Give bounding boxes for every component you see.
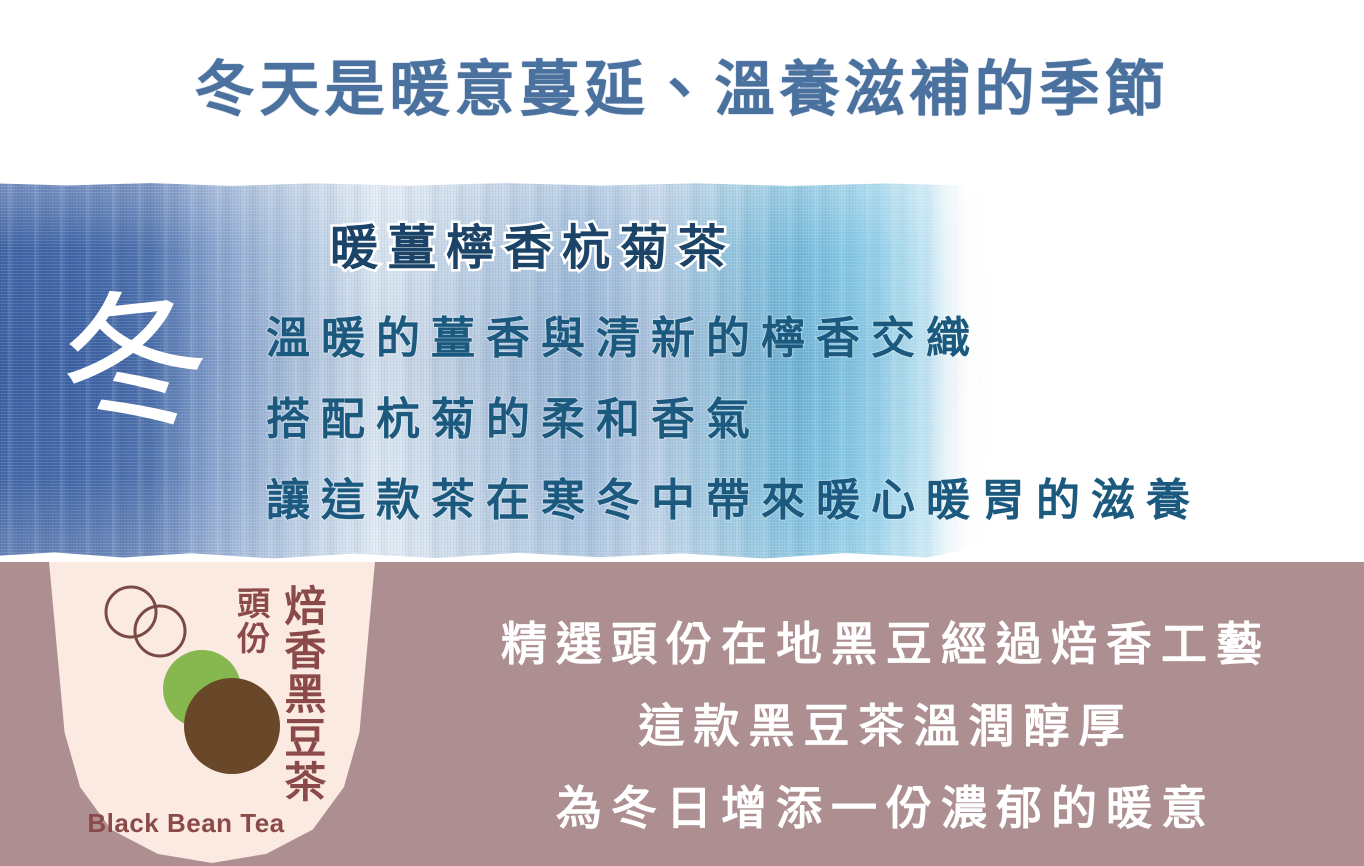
package-english-label: Black Bean Tea: [18, 808, 354, 839]
tea-description-line-3: 讓這款茶在寒冬中帶來暖心暖胃的滋養: [266, 464, 1201, 528]
brown-bean-dot: [184, 678, 280, 774]
winter-watercolor-section: 冬 暖薑檸香杭菊茶 溫暖的薑香與清新的檸香交織 搭配杭菊的柔和香氣 讓這款茶在寒…: [0, 180, 1364, 562]
bean-description-line-2: 這款黑豆茶溫潤醇厚: [408, 690, 1364, 756]
black-bean-section: 頭份 焙香黑豆茶 Black Bean Tea 精選頭份在地黑豆經過焙香工藝 這…: [0, 562, 1364, 866]
tea-description-line-2: 搭配杭菊的柔和香氣: [266, 383, 761, 447]
black-bean-text-block: 精選頭份在地黑豆經過焙香工藝 這款黑豆茶溫潤醇厚 為冬日增添一份濃郁的暖意: [408, 562, 1364, 866]
tea-product-title: 暖薑檸香杭菊茶: [330, 208, 736, 278]
product-package-illustration: 頭份 焙香黑豆茶 Black Bean Tea: [18, 562, 406, 866]
package-product-label: 焙香黑豆茶: [280, 584, 323, 804]
bean-description-line-1: 精選頭份在地黑豆經過焙香工藝: [408, 608, 1364, 674]
tea-description-line-1: 溫暖的薑香與清新的檸香交織: [266, 302, 981, 366]
page-title: 冬天是暖意蔓延、溫養滋補的季節: [195, 60, 1170, 120]
winter-text-block: 暖薑檸香杭菊茶 溫暖的薑香與清新的檸香交織 搭配杭菊的柔和香氣 讓這款茶在寒冬中…: [0, 180, 1364, 562]
header-band: 冬天是暖意蔓延、溫養滋補的季節: [0, 0, 1364, 180]
bean-outline-icon: [98, 584, 194, 660]
bean-description-line-3: 為冬日增添一份濃郁的暖意: [408, 772, 1364, 838]
package-origin-label: 頭份: [234, 586, 268, 656]
poster-root: 冬天是暖意蔓延、溫養滋補的季節 冬 暖薑檸香杭菊茶 溫暖的薑香與清新的檸香交織 …: [0, 0, 1364, 866]
